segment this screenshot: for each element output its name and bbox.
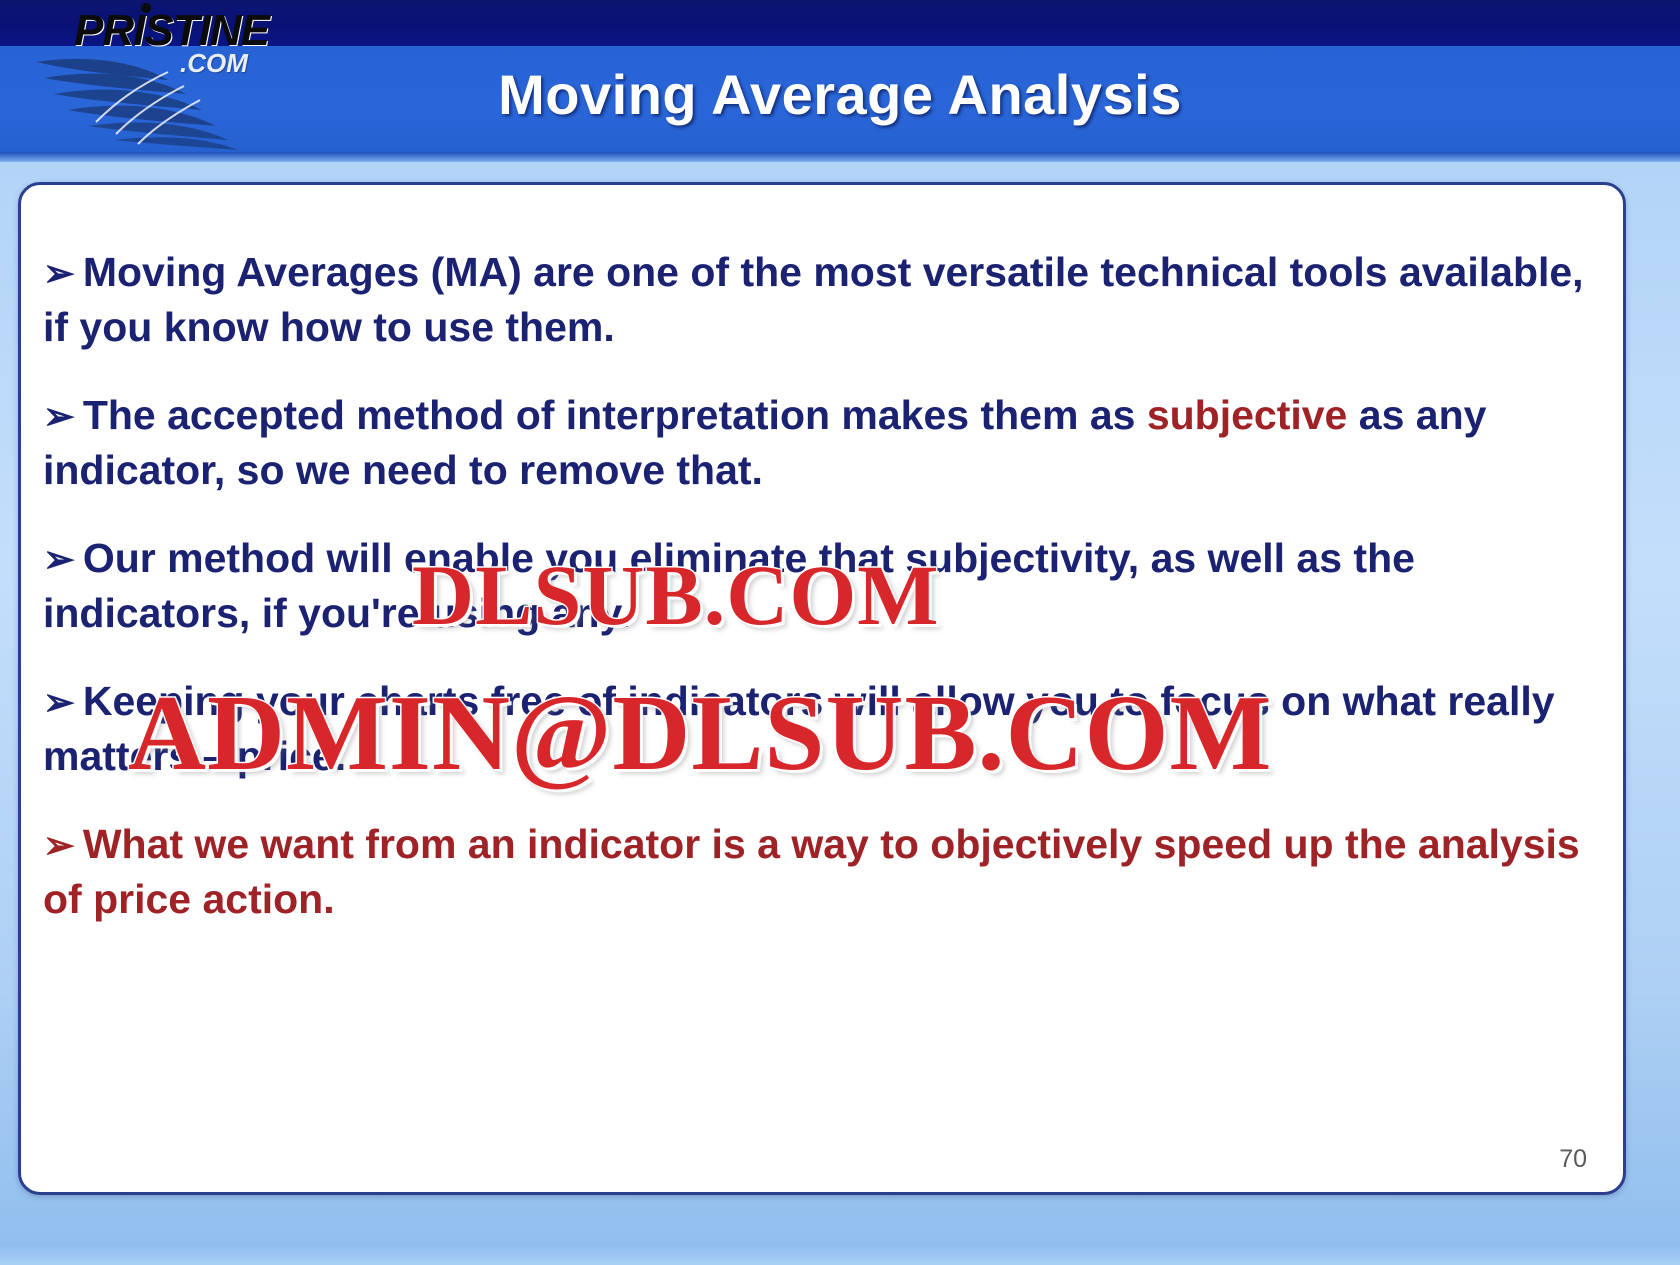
slide-canvas: Moving Average Analysis PRISTINE .COM ➢M… bbox=[0, 0, 1680, 1265]
bullet-arrow-icon: ➢ bbox=[43, 682, 75, 724]
watermark-dlsub: DLSUB.COM bbox=[412, 545, 939, 645]
bullet-item: ➢What we want from an indicator is a way… bbox=[43, 817, 1603, 926]
title-band-shine bbox=[0, 152, 1680, 162]
bullet-text-segment: What we want from an indicator is a way … bbox=[43, 821, 1580, 922]
watermark-admin-email: ADMIN@DLSUB.COM bbox=[128, 672, 1272, 796]
bullet-text-segment: subjective bbox=[1147, 392, 1348, 438]
bullet-item: ➢The accepted method of interpretation m… bbox=[43, 388, 1603, 497]
logo-suffix: .COM bbox=[180, 48, 248, 79]
page-number: 70 bbox=[1559, 1145, 1587, 1174]
bullet-text-segment: Moving Averages (MA) are one of the most… bbox=[43, 249, 1584, 350]
pristine-logo: PRISTINE .COM bbox=[18, 2, 338, 152]
bullet-arrow-icon: ➢ bbox=[43, 539, 75, 581]
bullet-arrow-icon: ➢ bbox=[43, 253, 75, 295]
watermark-dlsub-text: DLSUB.COM bbox=[412, 547, 939, 643]
bottom-strip bbox=[0, 1243, 1680, 1265]
bullet-arrow-icon: ➢ bbox=[43, 825, 75, 867]
bullet-arrow-icon: ➢ bbox=[43, 396, 75, 438]
bullet-text-segment: The accepted method of interpretation ma… bbox=[83, 392, 1147, 438]
bullet-item: ➢Moving Averages (MA) are one of the mos… bbox=[43, 245, 1603, 354]
watermark-admin-email-text: ADMIN@DLSUB.COM bbox=[128, 674, 1272, 793]
